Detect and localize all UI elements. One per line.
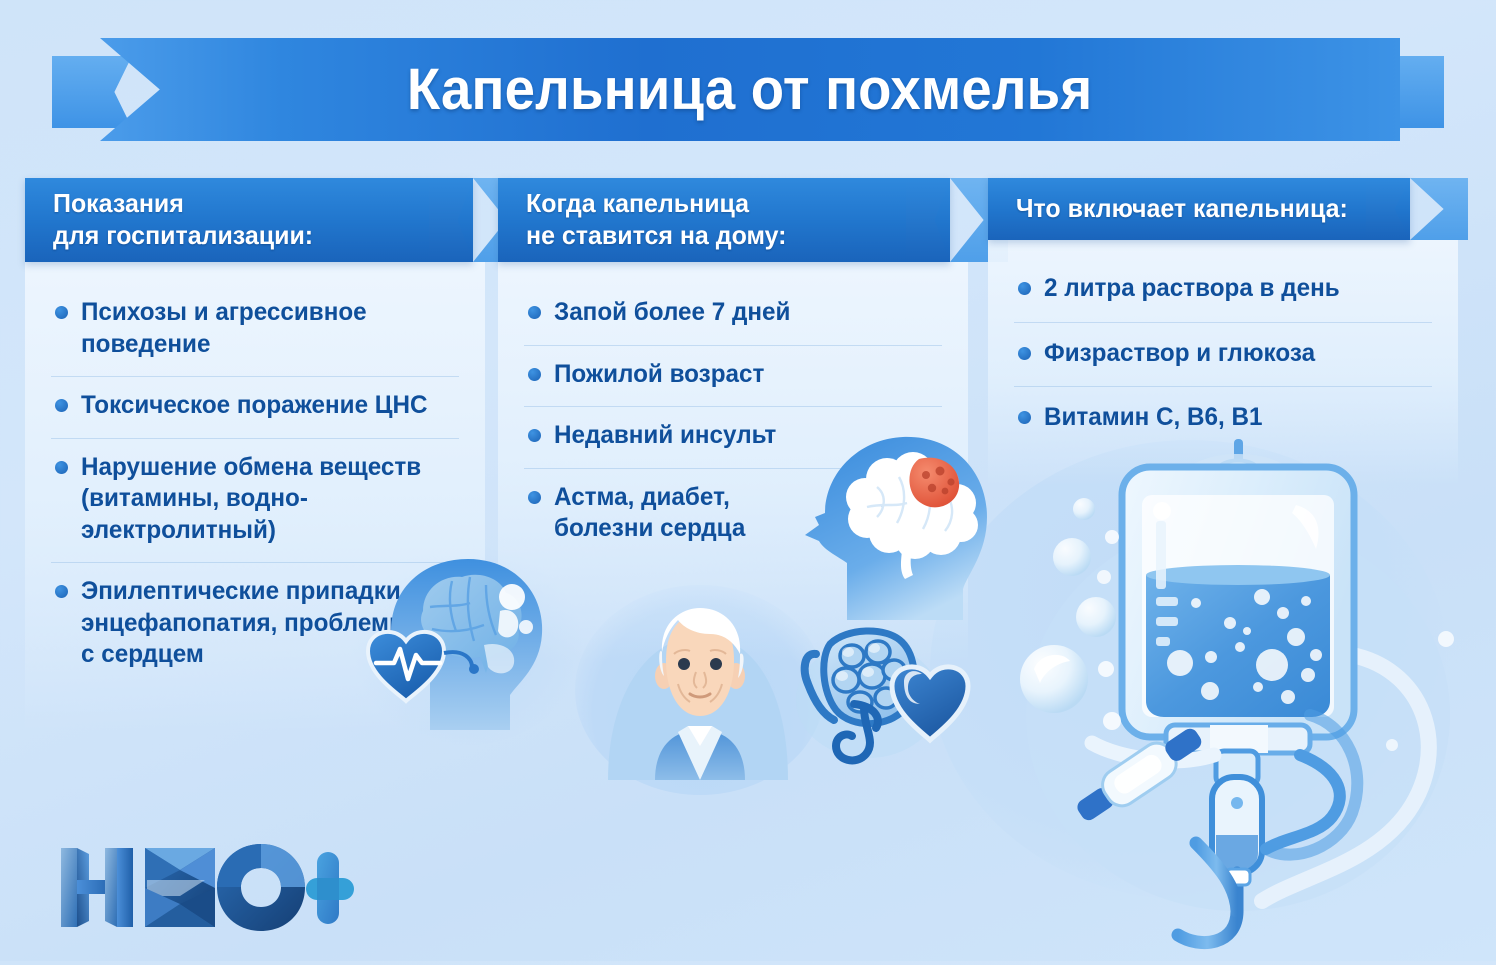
bullet-dot-icon	[528, 429, 541, 442]
panel-header-indications: Показания для госпитализации:	[25, 178, 473, 262]
panel-header-contraindications: Когда капельница не ставится на дому:	[498, 178, 950, 262]
neo-plus-logo	[55, 840, 355, 935]
bullet-dot-icon	[1018, 347, 1031, 360]
bullet-dot-icon	[55, 399, 68, 412]
bullet-dot-icon	[55, 306, 68, 319]
bullet-dot-icon	[528, 491, 541, 504]
bullet-dot-icon	[528, 368, 541, 381]
panel-header-label: Показания для госпитализации:	[53, 188, 313, 251]
list-item-label: Психозы и агрессивное поведение	[81, 297, 367, 360]
page-title: Капельница от похмелья	[407, 56, 1093, 123]
elderly-man-icon	[600, 598, 800, 780]
list-item: Запой более 7 дней	[524, 284, 942, 346]
list-item: Токсическое поражение ЦНС	[51, 377, 459, 439]
header-notch	[906, 178, 950, 262]
title-banner: Капельница от похмелья	[100, 38, 1400, 141]
header-flag-tail	[1410, 178, 1468, 240]
list-item-label: Нарушение обмена веществ (витамины, водн…	[81, 452, 444, 547]
head-with-brain-and-heart-ecg-icon	[360, 545, 595, 730]
bullet-dot-icon	[1018, 282, 1031, 295]
list-item-label: 2 литра раствора в день	[1044, 273, 1340, 305]
lungs-heart-stethoscope-icon	[790, 608, 980, 770]
bullet-dot-icon	[55, 585, 68, 598]
list-item: Физраствор и глюкоза	[1014, 323, 1432, 388]
list-item: Психозы и агрессивное поведение	[51, 284, 459, 377]
bullet-dot-icon	[528, 306, 541, 319]
list-item-label: Пожилой возраст	[554, 359, 764, 391]
list-item-label: Физраствор и глюкоза	[1044, 338, 1315, 370]
list-item: Пожилой возраст	[524, 346, 942, 408]
bullet-dot-icon	[1018, 411, 1031, 424]
list-item-label: Запой более 7 дней	[554, 297, 790, 329]
title-ribbon-tail-left	[52, 56, 132, 128]
list-item-label: Астма, диабет, болезни сердца	[554, 482, 745, 545]
header-notch	[1366, 178, 1410, 240]
panel-header-label: Когда капельница не ставится на дому:	[526, 188, 787, 251]
bullet-dot-icon	[55, 461, 68, 474]
panel-header-contents: Что включает капельница:	[988, 178, 1410, 240]
list-item-label: Недавний инсульт	[554, 420, 776, 452]
list-contents: 2 литра раствора в день Физраствор и глю…	[1014, 258, 1432, 451]
list-item: 2 литра раствора в день	[1014, 258, 1432, 323]
panel-header-label: Что включает капельница:	[1016, 193, 1348, 225]
head-with-brain-stroke-icon	[795, 425, 1010, 620]
header-notch	[429, 178, 473, 262]
list-item-label: Токсическое поражение ЦНС	[81, 390, 428, 422]
iv-drip-bag-icon	[1000, 425, 1470, 965]
